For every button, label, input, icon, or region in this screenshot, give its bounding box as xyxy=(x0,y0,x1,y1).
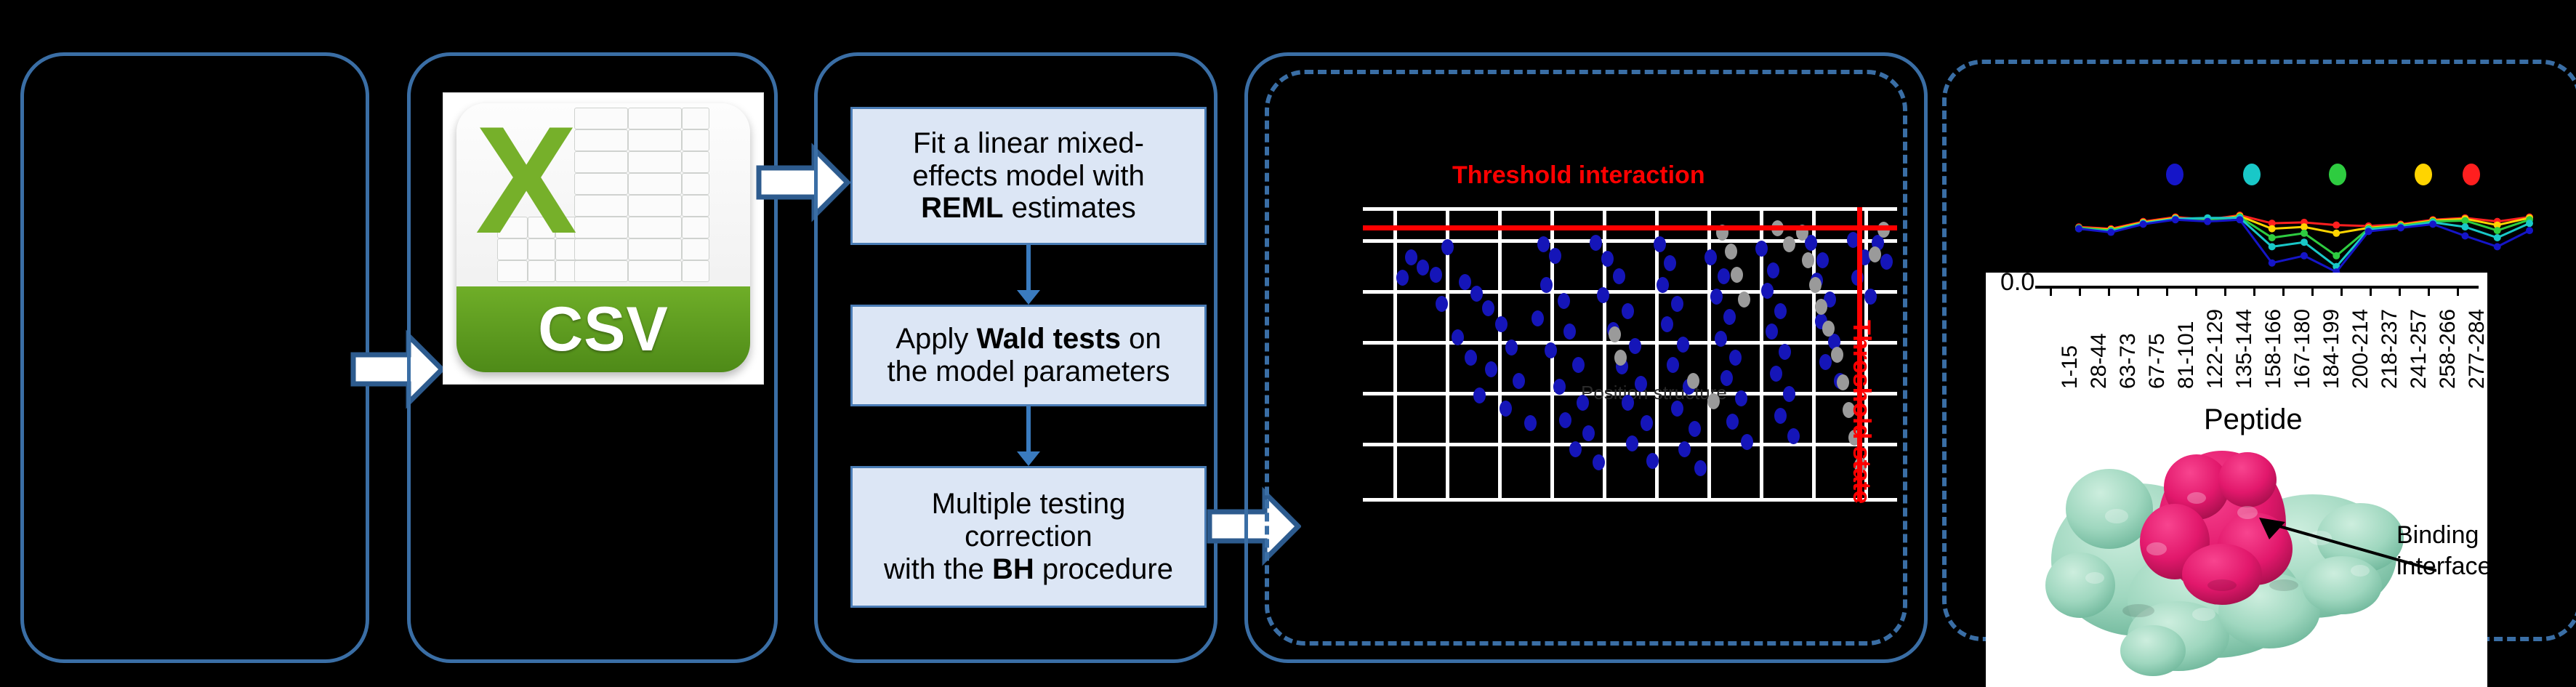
chart-data-point xyxy=(2236,216,2243,223)
scatter-faint-axis-text: Position structure xyxy=(1581,382,1727,404)
csv-file-icon: X CSV xyxy=(456,103,750,372)
peptide-tick-label: 218-237 xyxy=(2378,309,2402,389)
threshold-state-label: Threshold state xyxy=(1847,320,1875,504)
peptide-axis-line xyxy=(2035,286,2479,289)
chart-data-point xyxy=(2301,252,2308,260)
chart-data-point xyxy=(2526,227,2533,234)
peptide-tick-label: 81-101 xyxy=(2174,321,2199,389)
binding-interface-line-2: interface xyxy=(2396,551,2487,582)
legend-dot-yellow xyxy=(2415,164,2432,185)
peptide-tick-label: 1-15 xyxy=(2058,345,2082,389)
legend-dot-blue xyxy=(2166,164,2183,185)
protein-inset: 0.0 1-1528-4463-7367-7581-101122-129135-… xyxy=(1986,273,2487,687)
connector-2 xyxy=(1026,406,1031,451)
csv-label-text: CSV xyxy=(538,294,669,366)
csv-image-frame: X CSV xyxy=(443,93,763,384)
chart-data-point xyxy=(2075,225,2082,233)
panel-input xyxy=(20,52,369,663)
peptide-tick-label: 135-144 xyxy=(2232,309,2257,389)
connector-2-arrowhead xyxy=(1017,451,1040,466)
bh-correction-box[interactable]: Multiple testing correction with the BH … xyxy=(850,466,1207,608)
peptide-tick-label: 67-75 xyxy=(2145,333,2170,389)
peptide-tick-label: 28-44 xyxy=(2087,333,2112,389)
legend-dot-green xyxy=(2329,164,2346,185)
wald-tests-box-text: Apply Wald tests on the model parameters xyxy=(887,323,1170,388)
csv-label-band: CSV xyxy=(456,286,750,372)
peptide-tick-label: 200-214 xyxy=(2348,309,2373,389)
chart-data-point xyxy=(2301,230,2308,237)
chart-data-point xyxy=(2494,234,2501,241)
chart-data-point xyxy=(2526,220,2533,227)
chart-data-point xyxy=(2429,220,2436,228)
peptide-tick-label: 277-284 xyxy=(2465,309,2487,389)
chart-data-point xyxy=(2397,224,2404,231)
chart-data-point xyxy=(2461,223,2468,230)
chart-data-point xyxy=(2461,217,2468,224)
chart-data-point xyxy=(2461,233,2468,240)
peptide-tick-label: 258-266 xyxy=(2436,309,2460,389)
chart-data-point xyxy=(2333,222,2340,229)
legend-dot-cyan xyxy=(2243,164,2261,185)
chart-data-point xyxy=(2269,260,2276,267)
chart-data-point xyxy=(2333,230,2340,237)
peptide-tick-label: 184-199 xyxy=(2319,309,2344,389)
legend-dot-red xyxy=(2463,164,2480,185)
threshold-scatter-plot: Position structure xyxy=(1363,207,1897,502)
chart-data-point xyxy=(2140,220,2147,228)
binding-interface-label: Binding interface xyxy=(2396,520,2487,582)
peptide-tick-label: 63-73 xyxy=(2116,333,2141,389)
protein-surface-render xyxy=(2029,429,2436,676)
chart-data-point xyxy=(2269,234,2276,241)
peptide-tick-label: 122-129 xyxy=(2203,309,2228,389)
chart-data-point xyxy=(2494,243,2501,250)
peptide-tick-label: 158-166 xyxy=(2261,309,2286,389)
figure-canvas: X CSV Fit a linear mixed- effects model … xyxy=(0,0,2576,687)
chart-data-point xyxy=(2333,252,2340,260)
threshold-interaction-line xyxy=(1363,225,1897,230)
chart-data-point xyxy=(2107,229,2114,236)
reml-model-box[interactable]: Fit a linear mixed- effects model with R… xyxy=(850,107,1207,245)
chart-data-point xyxy=(2494,227,2501,234)
excel-x-glyph: X xyxy=(475,108,577,253)
chart-data-point xyxy=(2301,223,2308,230)
chart-data-point xyxy=(2269,225,2276,233)
peptide-tick-label: 241-257 xyxy=(2407,309,2431,389)
y-axis-tick-0: 0.0 xyxy=(2000,273,2034,297)
chart-data-point xyxy=(2204,218,2211,225)
connector-1-arrowhead xyxy=(1017,290,1040,305)
wald-tests-box[interactable]: Apply Wald tests on the model parameters xyxy=(850,305,1207,406)
binding-interface-line-1: Binding xyxy=(2396,520,2487,551)
bh-correction-box-text: Multiple testing correction with the BH … xyxy=(884,488,1173,585)
threshold-interaction-label: Threshold interaction xyxy=(1452,161,1705,190)
chart-data-point xyxy=(2172,216,2179,223)
peptide-tick-label: 167-180 xyxy=(2290,309,2315,389)
chart-legend xyxy=(1984,160,2493,189)
peptide-uptake-line-chart xyxy=(2035,185,2544,287)
reml-model-box-text: Fit a linear mixed- effects model with R… xyxy=(912,127,1144,225)
chart-data-point xyxy=(2365,228,2372,235)
chart-data-point xyxy=(2269,243,2276,250)
chart-data-point xyxy=(2301,238,2308,246)
connector-1 xyxy=(1026,245,1031,290)
